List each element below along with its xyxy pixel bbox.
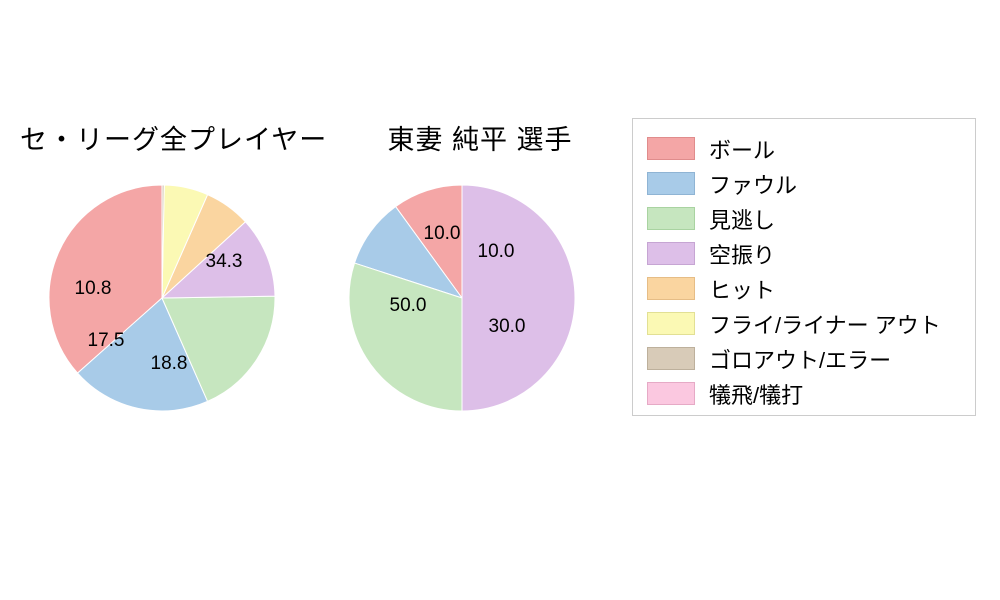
slice-value-label: 30.0 <box>489 316 526 337</box>
legend-swatch <box>647 347 695 370</box>
left-pie-title: セ・リーグ全プレイヤー <box>20 118 320 157</box>
legend-swatch <box>647 207 695 230</box>
slice-value-label: 10.0 <box>478 241 515 262</box>
legend-swatch <box>647 312 695 335</box>
legend-swatch <box>647 382 695 405</box>
legend-label: 見逃し <box>709 203 775 235</box>
legend: ボール ファウル 見逃し 空振り ヒット フライ/ライナー アウト ゴロアウト/… <box>632 118 976 416</box>
legend-swatch <box>647 242 695 265</box>
pie-slice <box>462 185 575 411</box>
legend-item: ボール <box>647 131 961 166</box>
legend-item: 犠飛/犠打 <box>647 376 961 411</box>
legend-item: ファウル <box>647 166 961 201</box>
legend-item: ヒット <box>647 271 961 306</box>
slice-value-label: 17.5 <box>88 330 125 351</box>
right-pie: 10.010.030.050.0 <box>348 184 576 412</box>
left-pie: 34.318.817.510.8 <box>48 184 276 412</box>
legend-swatch <box>647 172 695 195</box>
slice-value-label: 34.3 <box>206 251 243 272</box>
legend-swatch <box>647 277 695 300</box>
slice-value-label: 50.0 <box>390 295 427 316</box>
legend-label: ファウル <box>709 168 797 200</box>
right-pie-title: 東妻 純平 選手 <box>330 118 630 157</box>
legend-item: 見逃し <box>647 201 961 236</box>
legend-swatch <box>647 137 695 160</box>
slice-value-label: 18.8 <box>151 353 188 374</box>
legend-label: 空振り <box>709 238 775 270</box>
slice-value-label: 10.8 <box>75 278 112 299</box>
legend-label: ゴロアウト/エラー <box>709 343 891 375</box>
legend-label: ボール <box>709 133 775 165</box>
legend-item: ゴロアウト/エラー <box>647 341 961 376</box>
legend-label: 犠飛/犠打 <box>709 378 803 410</box>
legend-item: フライ/ライナー アウト <box>647 306 961 341</box>
slice-value-label: 10.0 <box>424 223 461 244</box>
legend-label: フライ/ライナー アウト <box>709 308 941 340</box>
legend-item: 空振り <box>647 236 961 271</box>
pie-chart-figure: セ・リーグ全プレイヤー 東妻 純平 選手 34.318.817.510.8 10… <box>0 0 1000 600</box>
legend-label: ヒット <box>709 273 775 305</box>
